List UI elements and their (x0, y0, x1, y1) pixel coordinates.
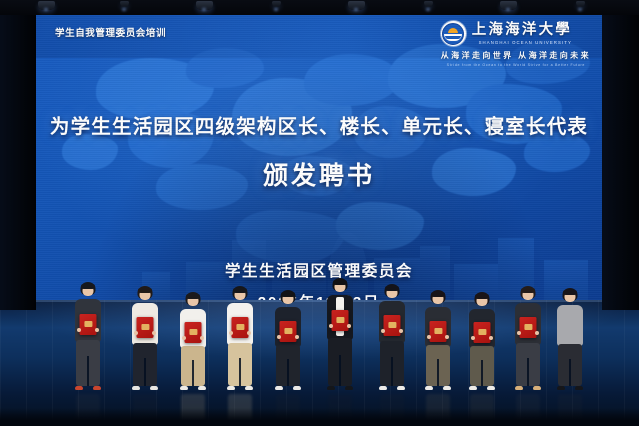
certificate-folder (232, 317, 249, 338)
stage-light-glow (426, 8, 430, 11)
person-hand-right (445, 335, 449, 339)
certificate-folder (185, 322, 202, 343)
certificate-folder (280, 321, 297, 342)
person-hand-left (471, 336, 475, 340)
stage-light-glow (202, 8, 206, 11)
person-student-2 (128, 286, 162, 390)
certificate-folder (430, 321, 447, 342)
person-staff-female (553, 288, 587, 390)
person-hair-front (138, 287, 152, 293)
stage-light-icon (424, 1, 433, 7)
certificate-folder (137, 317, 154, 338)
stage-light-icon (120, 1, 129, 7)
person-student-9 (511, 286, 545, 390)
person-hand-left (229, 331, 233, 335)
person-student-4 (223, 286, 257, 390)
award-recipients-row (0, 0, 639, 426)
stage-light-glow (578, 8, 582, 11)
person-hair-front (385, 285, 399, 291)
person-student-7 (421, 290, 455, 390)
person-hand-right (247, 331, 251, 335)
person-hand-left (277, 335, 281, 339)
person-hair-front (333, 279, 347, 285)
stage-light-row (0, 0, 639, 15)
person-hand-right (95, 328, 99, 332)
person-hand-right (200, 336, 204, 340)
person-hand-right (295, 335, 299, 339)
person-student-6 (375, 284, 409, 390)
stage-light-glow (44, 8, 48, 11)
person-hand-left (517, 331, 521, 335)
ceiling-truss (0, 0, 639, 15)
person-hand-left (381, 329, 385, 333)
person-hand-left (427, 335, 431, 339)
stage-light-icon (576, 1, 585, 7)
person-presenter-male (323, 278, 357, 390)
person-student-1 (71, 282, 105, 390)
person-hair-front (521, 287, 535, 293)
stage-light-glow (354, 8, 358, 11)
person-hand-left (329, 324, 333, 328)
stage-light-glow (506, 8, 510, 11)
person-hand-left (182, 336, 186, 340)
person-hand-left (134, 331, 138, 335)
person-hand-right (347, 324, 351, 328)
person-hair-front (281, 291, 295, 297)
person-student-3 (176, 292, 210, 390)
certificate-folder (520, 317, 537, 338)
person-hand-right (399, 329, 403, 333)
stage-scene: 学生自我管理委员会培训 上海海洋大學 SHANGHAI OCEAN UNIVER… (0, 0, 639, 426)
person-hand-right (535, 331, 539, 335)
certificate-folder (332, 310, 349, 331)
certificate-folder (80, 314, 97, 335)
person-student-8 (465, 292, 499, 390)
person-hand-right (489, 336, 493, 340)
person-hair-front (186, 293, 200, 299)
stage-light-icon (272, 1, 281, 7)
person-hair-front (475, 293, 489, 299)
person-student-5 (271, 290, 305, 390)
certificate-folder (384, 315, 401, 336)
person-torso (557, 305, 583, 346)
certificate-folder (474, 322, 491, 343)
person-hair-front (81, 283, 95, 289)
stage-light-glow (274, 8, 278, 11)
bottom-vignette (0, 408, 639, 426)
person-hair-front (563, 289, 577, 295)
person-hair-front (431, 291, 445, 297)
person-hair-front (233, 287, 247, 293)
person-hand-left (77, 328, 81, 332)
stage-light-glow (122, 8, 126, 11)
person-hand-right (152, 331, 156, 335)
